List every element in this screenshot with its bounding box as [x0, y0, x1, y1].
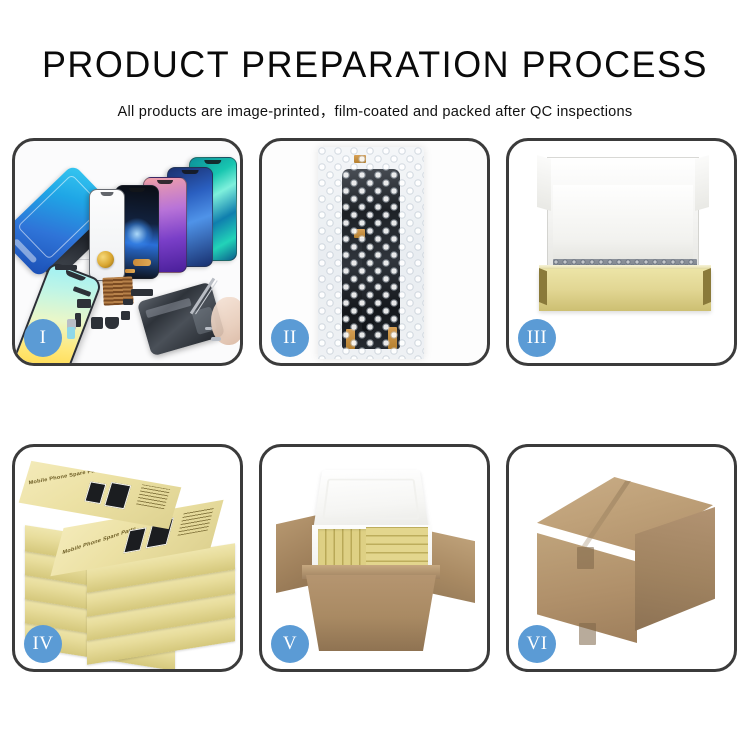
foam-lid [313, 470, 429, 532]
notch-icon [129, 188, 145, 192]
box-label-spec-lines [178, 507, 214, 535]
speaker-module-icon [97, 251, 114, 268]
part-battery-connector-icon [55, 265, 77, 270]
box-label-window [84, 481, 106, 504]
part-connector-icon [123, 299, 133, 305]
panel-step-2: II [259, 138, 490, 366]
box-label-spec-lines [136, 484, 170, 509]
step-badge: III [518, 319, 556, 357]
notch-icon [101, 192, 114, 196]
foam-sheet [553, 185, 693, 263]
panel-step-5: V [259, 444, 490, 672]
notch-icon [182, 170, 199, 174]
carton-body [306, 575, 436, 651]
part-screw-2-icon [205, 327, 212, 330]
header: PRODUCT PREPARATION PROCESS All products… [0, 0, 750, 121]
part-flex-small-icon [125, 269, 135, 273]
carton-tab-upper [577, 547, 594, 569]
page-subtitle: All products are image-printed，film-coat… [0, 83, 750, 121]
part-chip-icon [121, 311, 130, 320]
part-flex-cable-icon [133, 259, 151, 266]
part-vibrator-icon [91, 317, 103, 329]
step-badge: V [271, 625, 309, 663]
kraft-box-base [539, 269, 711, 311]
notch-icon [204, 160, 221, 164]
step-badge: I [24, 319, 62, 357]
panel-step-3: III [506, 138, 737, 366]
panel-step-6: VI [506, 444, 737, 672]
process-step-grid: I II [12, 138, 738, 686]
page-title: PRODUCT PREPARATION PROCESS [11, 0, 739, 83]
panel-step-4: Mobile Phone Spare Parts Mobile Phone Sp… [12, 444, 243, 672]
part-film-icon [67, 327, 75, 339]
part-camera-icon [77, 299, 91, 308]
bubble-wrap-bag [318, 147, 424, 359]
carton-tab-lower [579, 623, 596, 645]
part-board-icon [131, 289, 153, 296]
inner-boxes-row-2 [366, 527, 428, 569]
bubble-texture [318, 147, 424, 359]
part-screw-icon [211, 337, 221, 341]
printed-box-lid-back: Mobile Phone Spare Parts [19, 461, 182, 529]
panel-step-1: I [12, 138, 243, 366]
step-badge: VI [518, 625, 556, 663]
box-label-window [104, 482, 131, 509]
product-preparation-process-page: PRODUCT PREPARATION PROCESS All products… [0, 0, 750, 750]
step-badge: II [271, 319, 309, 357]
notch-icon [157, 180, 173, 184]
step-badge: IV [24, 625, 62, 663]
part-speaker-icon [105, 317, 119, 329]
